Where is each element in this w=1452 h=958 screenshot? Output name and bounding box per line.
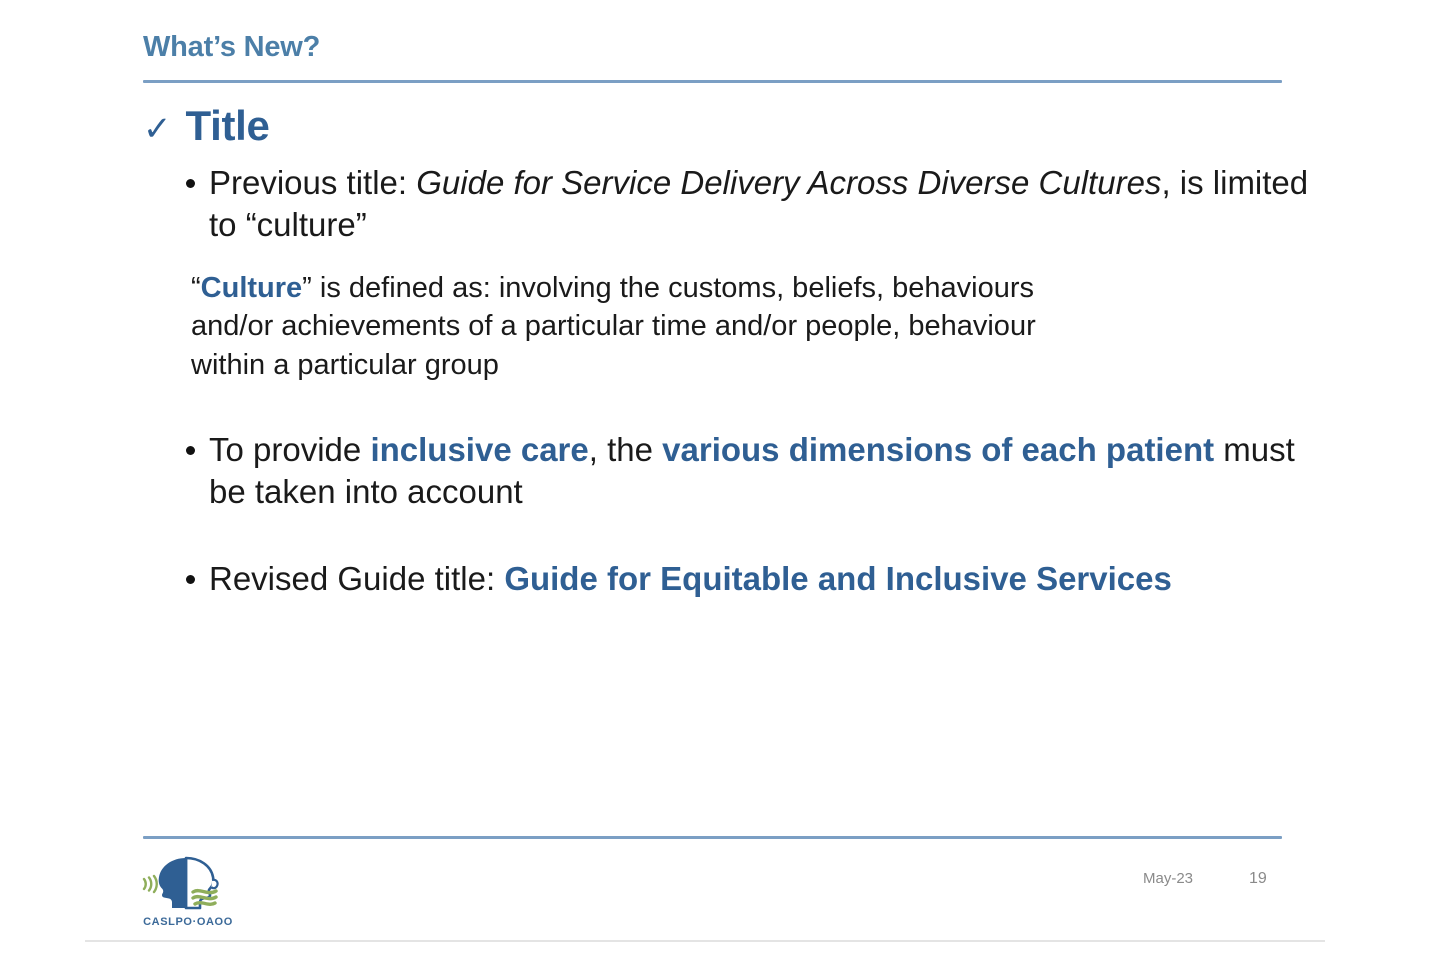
section-title: Title — [186, 104, 270, 148]
bottom-divider — [85, 940, 1325, 942]
slide-header: What’s New? — [143, 32, 1283, 64]
footer-date: May-23 — [1143, 870, 1193, 887]
sub-note-rest: ” is defined as: involving the customs, … — [191, 272, 1036, 382]
section-heading-row: ✓ Title — [143, 104, 1323, 148]
bullet-1-prefix: Previous title: — [209, 164, 416, 201]
bullet-text-1: Previous title: Guide for Service Delive… — [209, 164, 1308, 243]
sub-note: “Culture” is defined as: involving the c… — [191, 269, 1041, 386]
sub-note-open-quote: “ — [191, 272, 201, 304]
logo-wordmark: CASLPO·OAOO — [128, 916, 248, 928]
bullet-dot-icon — [186, 179, 195, 188]
list-item: Previous title: Guide for Service Delive… — [143, 162, 1323, 246]
slide-content: ✓ Title Previous title: Guide for Servic… — [143, 104, 1323, 600]
bullet-2-bold2: various dimensions of each patient — [662, 431, 1214, 468]
bullet-1-italic-title: Guide for Service Delivery Across Divers… — [416, 164, 1161, 201]
header-divider — [143, 80, 1282, 83]
bullet-text-3: Revised Guide title: Guide for Equitable… — [209, 560, 1172, 597]
bullet-dot-icon — [186, 575, 195, 584]
bullet-3-part1: Revised Guide title: — [209, 560, 504, 597]
footer-divider — [143, 836, 1282, 839]
caslpo-head-logo-icon — [138, 852, 238, 914]
sub-note-term: Culture — [201, 272, 303, 304]
list-item: To provide inclusive care, the various d… — [143, 429, 1323, 513]
footer-page-number: 19 — [1249, 870, 1267, 888]
check-icon: ✓ — [143, 112, 172, 146]
bullet-2-part1: To provide — [209, 431, 370, 468]
organization-logo: CASLPO·OAOO — [128, 852, 248, 928]
bullet-text-2: To provide inclusive care, the various d… — [209, 431, 1295, 510]
bullet-2-bold1: inclusive care — [370, 431, 588, 468]
bullet-list: Previous title: Guide for Service Delive… — [143, 162, 1323, 600]
bullet-2-part2: , the — [589, 431, 662, 468]
list-item: Revised Guide title: Guide for Equitable… — [143, 558, 1323, 600]
slide: What’s New? ✓ Title Previous title: Guid… — [0, 0, 1452, 958]
bullet-dot-icon — [186, 446, 195, 455]
bullet-3-bold1: Guide for Equitable and Inclusive Servic… — [504, 560, 1172, 597]
page-title: What’s New? — [143, 32, 1283, 64]
